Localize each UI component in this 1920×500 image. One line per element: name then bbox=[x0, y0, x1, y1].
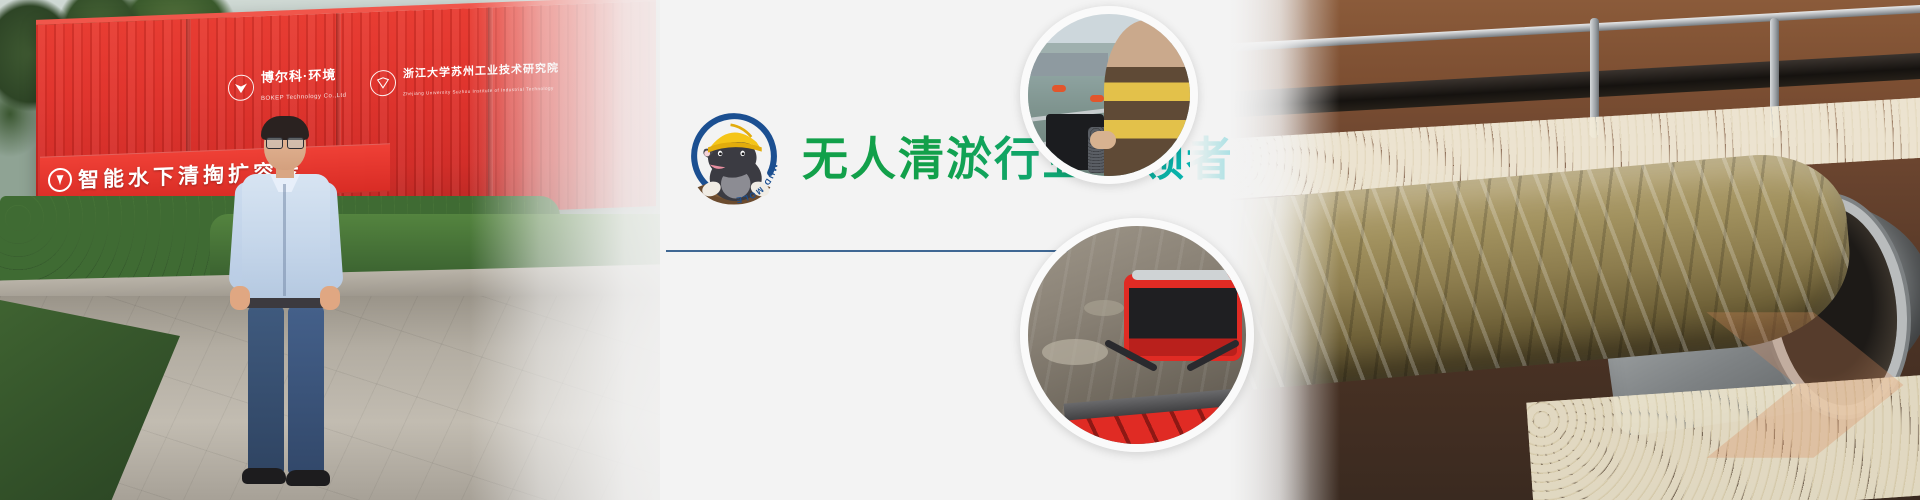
photo-dredging-robot bbox=[1020, 218, 1254, 452]
hero-banner: 博尔科·环境 BOKEP Technology Co.,Ltd 浙江大学苏州工业… bbox=[0, 0, 1920, 500]
engineer-person bbox=[226, 120, 346, 500]
container-partner-en: Zhejiang University Suzhou Institute of … bbox=[403, 86, 554, 97]
bokep-emblem-icon bbox=[228, 74, 254, 101]
university-emblem-icon bbox=[370, 70, 396, 97]
container-brand-en: BOKEP Technology Co.,Ltd bbox=[261, 93, 347, 102]
container-partner-cn: 浙江大学苏州工业技术研究院 bbox=[403, 62, 559, 80]
right-photo-sludge-pipe bbox=[1230, 0, 1920, 500]
container-partner-logo: 浙江大学苏州工业技术研究院 Zhejiang University Suzhou… bbox=[370, 58, 559, 101]
left-photo-container-and-engineer: 博尔科·环境 BOKEP Technology Co.,Ltd 浙江大学苏州工业… bbox=[0, 0, 660, 500]
container-brand-cn: 博尔科·环境 bbox=[261, 67, 336, 85]
mud-mole-logo: MUD MOLE bbox=[682, 104, 786, 208]
chevron-arrow-overlay-icon bbox=[1698, 278, 1912, 492]
photo-operator-control-console bbox=[1020, 6, 1198, 184]
slogan-badge-icon bbox=[48, 167, 72, 192]
eyeglasses bbox=[266, 137, 304, 147]
container-brand-logo: 博尔科·环境 BOKEP Technology Co.,Ltd bbox=[228, 66, 347, 107]
mud-mole-logo-icon: MUD MOLE bbox=[682, 104, 786, 208]
